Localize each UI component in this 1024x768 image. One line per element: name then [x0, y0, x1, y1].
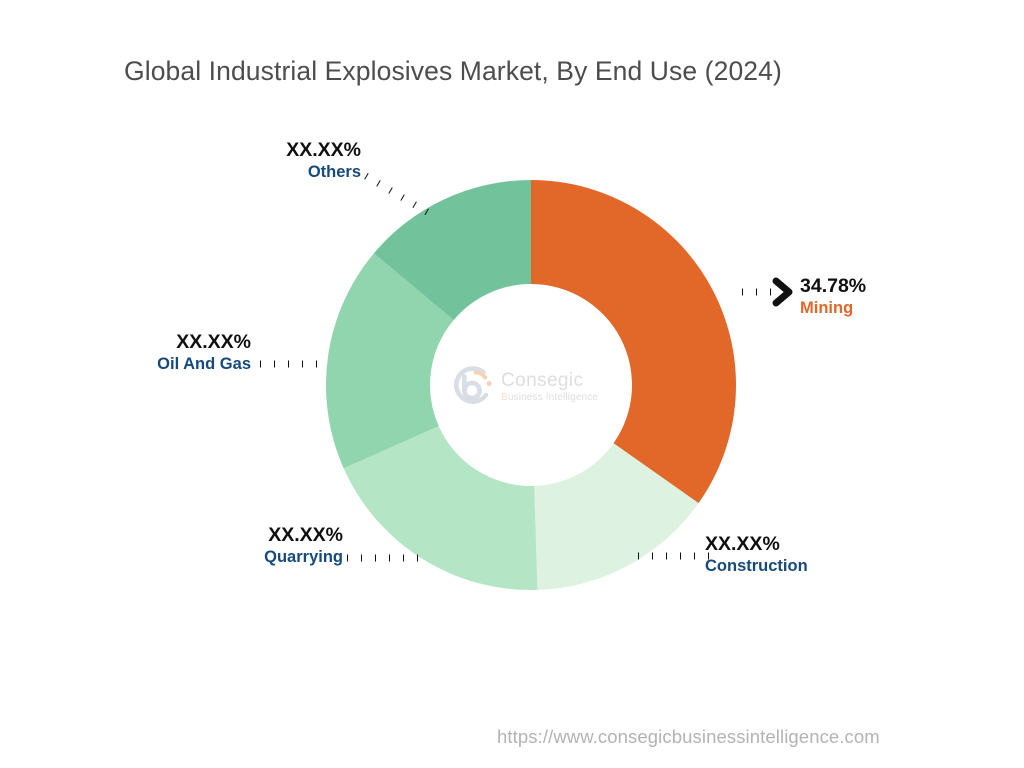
donut-slice-mining[interactable] — [531, 180, 736, 503]
callout-others: XX.XX% Others — [181, 138, 361, 184]
leader-line-others — [366, 176, 432, 215]
callout-quarrying-value: XX.XX% — [131, 523, 343, 547]
callout-construction: XX.XX% Construction — [705, 532, 925, 578]
callout-quarrying: XX.XX% Quarrying — [131, 523, 343, 569]
callout-quarrying-label: Quarrying — [131, 547, 343, 568]
chart-container: Global Industrial Explosives Market, By … — [0, 0, 1024, 768]
callout-oil-and-gas-value: XX.XX% — [51, 330, 251, 354]
callout-oil-and-gas-label: Oil And Gas — [51, 354, 251, 375]
callout-mining-value: 34.78% — [800, 274, 1000, 298]
callout-others-label: Others — [181, 162, 361, 183]
callout-mining-label: Mining — [800, 298, 1000, 319]
callout-construction-value: XX.XX% — [705, 532, 925, 556]
footer-url[interactable]: https://www.consegicbusinessintelligence… — [497, 726, 880, 748]
donut-chart — [0, 0, 1024, 768]
callout-mining: 34.78% Mining — [800, 274, 1000, 320]
leader-arrowhead-mining — [776, 281, 789, 303]
donut-slices — [326, 180, 736, 590]
callout-construction-label: Construction — [705, 556, 925, 577]
callout-oil-and-gas: XX.XX% Oil And Gas — [51, 330, 251, 376]
callout-others-value: XX.XX% — [181, 138, 361, 162]
